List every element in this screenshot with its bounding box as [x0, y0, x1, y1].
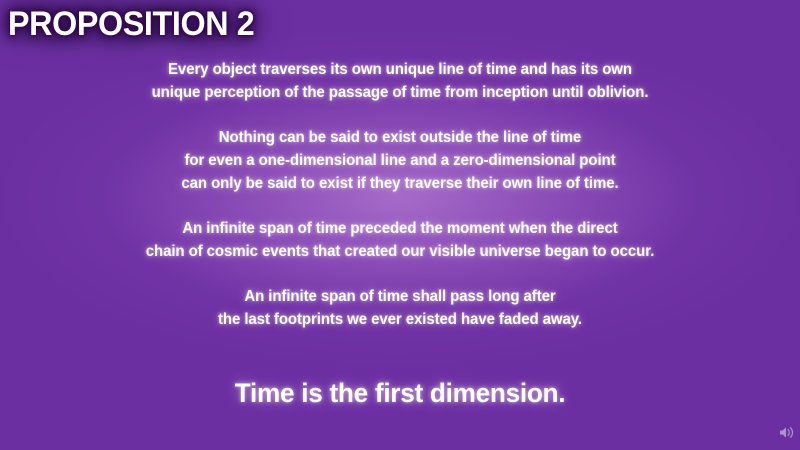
paragraph-3: An infinite span of time preceded the mo…: [0, 217, 800, 263]
page-title: PROPOSITION 2: [8, 2, 254, 46]
speaker-volume-icon[interactable]: [779, 426, 795, 439]
paragraph-line: chain of cosmic events that created our …: [12, 240, 788, 263]
paragraph-line: An infinite span of time preceded the mo…: [12, 217, 788, 240]
conclusion-statement: Time is the first dimension.: [0, 376, 800, 410]
paragraph-line: An infinite span of time shall pass long…: [12, 285, 788, 308]
slide-body: Every object traverses its own unique li…: [0, 58, 800, 331]
paragraph-1: Every object traverses its own unique li…: [0, 58, 800, 104]
paragraph-line: for even a one-dimensional line and a ze…: [12, 149, 788, 172]
paragraph-4: An infinite span of time shall pass long…: [0, 285, 800, 331]
presentation-slide: PROPOSITION 2 Every object traverses its…: [0, 0, 800, 450]
paragraph-line: can only be said to exist if they traver…: [12, 172, 788, 195]
paragraph-line: Every object traverses its own unique li…: [12, 58, 788, 81]
paragraph-line: the last footprints we ever existed have…: [12, 308, 788, 331]
paragraph-line: unique perception of the passage of time…: [12, 81, 788, 104]
paragraph-line: Nothing can be said to exist outside the…: [12, 126, 788, 149]
paragraph-2: Nothing can be said to exist outside the…: [0, 126, 800, 195]
conclusion-text: Time is the first dimension.: [12, 376, 788, 410]
